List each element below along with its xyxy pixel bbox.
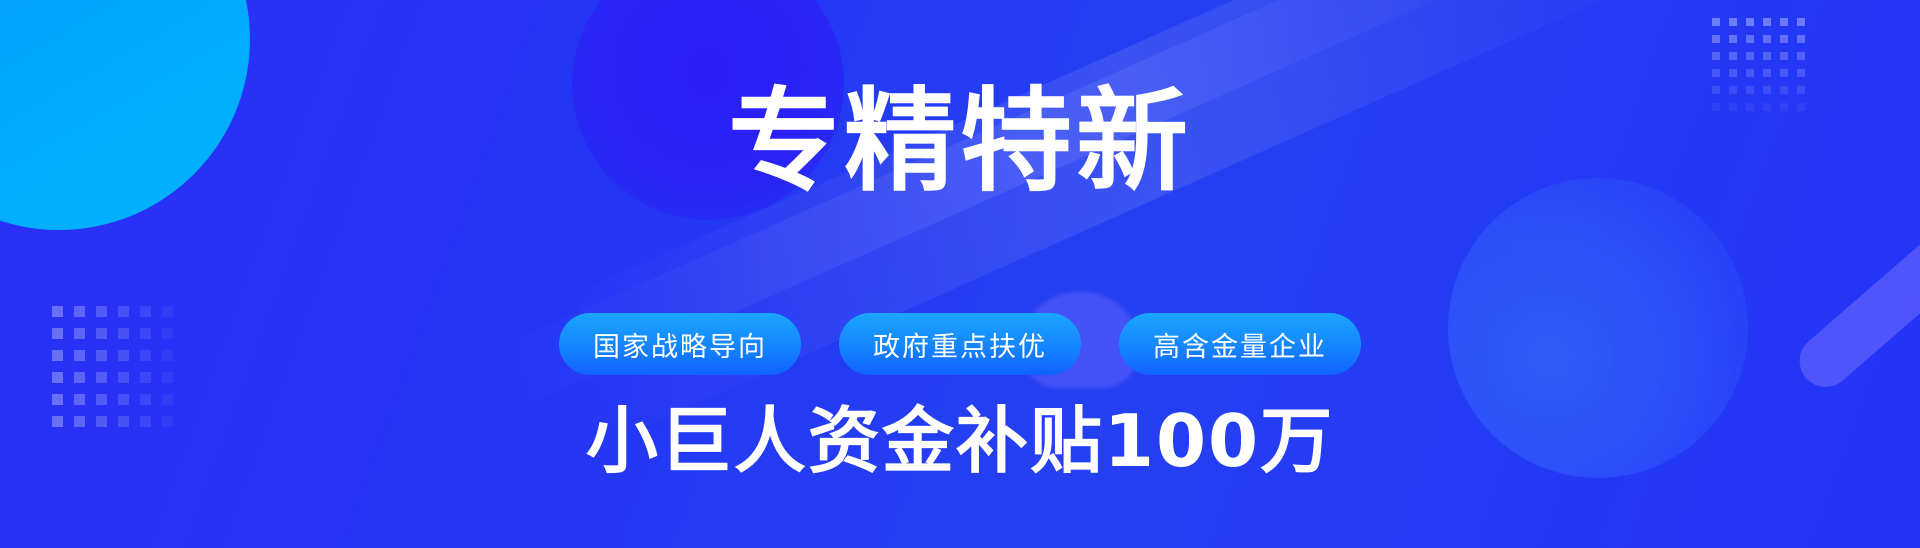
tag-pill-high-value-enterprise[interactable]: 高含金量企业 — [1119, 313, 1361, 375]
subsidy-headline: 小巨人资金补贴100万 — [586, 405, 1334, 477]
page-title: 专精特新 — [728, 86, 1192, 198]
tag-pill-national-strategy[interactable]: 国家战略导向 — [559, 313, 801, 375]
tag-pill-label: 高含金量企业 — [1153, 325, 1327, 364]
tag-pill-label: 国家战略导向 — [593, 325, 767, 364]
tag-pill-row: 国家战略导向 政府重点扶优 高含金量企业 — [559, 313, 1361, 375]
tag-pill-label: 政府重点扶优 — [873, 325, 1047, 364]
promo-banner: 专精特新 国家战略导向 政府重点扶优 高含金量企业 小巨人资金补贴100万 — [0, 0, 1920, 548]
banner-content: 专精特新 国家战略导向 政府重点扶优 高含金量企业 小巨人资金补贴100万 — [0, 0, 1920, 548]
tag-pill-government-support[interactable]: 政府重点扶优 — [839, 313, 1081, 375]
